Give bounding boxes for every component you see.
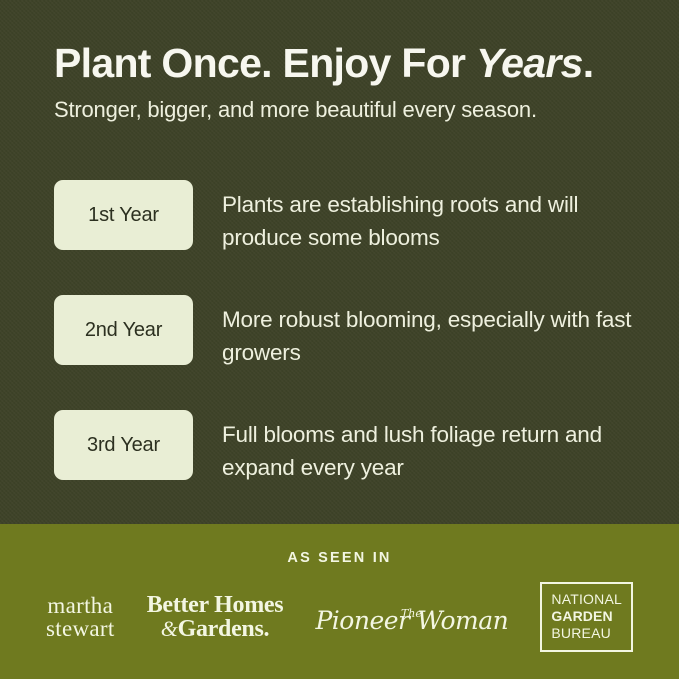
logo-pioneer-the: The [401,600,422,627]
promo-poster: Plant Once. Enjoy For Years. Stronger, b… [0,0,679,679]
logo-better-homes-and-gardens: Better Homes &Gardens. [147,594,284,641]
logo-martha-stewart-line2: stewart [46,616,115,641]
press-logo-row: martha stewart Better Homes &Gardens. Th… [0,582,679,652]
as-seen-in-band: AS SEEN IN martha stewart Better Homes &… [0,524,679,679]
headline-part-2: . [583,40,594,86]
logo-martha-stewart-line1: martha [47,593,113,618]
page-subtitle: Stronger, bigger, and more beautiful eve… [54,96,537,124]
as-seen-in-label: AS SEEN IN [287,550,391,566]
logo-ngb-line1: NATIONAL [551,591,622,608]
logo-national-garden-bureau: NATIONAL GARDEN BUREAU [540,582,633,652]
timeline-row-1st-year: 1st Year Plants are establishing roots a… [54,180,649,254]
year-badge-2nd: 2nd Year [54,295,193,365]
growth-timeline-list: 1st Year Plants are establishing roots a… [54,180,649,484]
logo-the-pioneer-woman: The Pioneer Woman [315,600,508,634]
logo-ngb-line2: GARDEN [551,608,622,625]
headline-italic-years: Years [476,40,583,86]
logo-bhg-line1: Better Homes [147,592,284,618]
top-panel: Plant Once. Enjoy For Years. Stronger, b… [0,0,679,524]
timeline-description-1st: Plants are establishing roots and will p… [222,180,649,254]
timeline-description-3rd: Full blooms and lush foliage return and … [222,410,649,484]
year-badge-1st: 1st Year [54,180,193,250]
logo-martha-stewart: martha stewart [46,594,115,640]
logo-ngb-line3: BUREAU [551,625,622,642]
timeline-description-2nd: More robust blooming, especially with fa… [222,295,649,369]
page-title: Plant Once. Enjoy For Years. [54,40,593,87]
timeline-row-3rd-year: 3rd Year Full blooms and lush foliage re… [54,410,649,484]
year-badge-3rd: 3rd Year [54,410,193,480]
headline-part-1: Plant Once. Enjoy For [54,40,476,86]
logo-bhg-line2-wrap: &Gardens. [147,617,284,641]
timeline-row-2nd-year: 2nd Year More robust blooming, especiall… [54,295,649,369]
ampersand-glyph: & [161,616,178,641]
logo-bhg-line2: Gardens. [178,616,270,642]
